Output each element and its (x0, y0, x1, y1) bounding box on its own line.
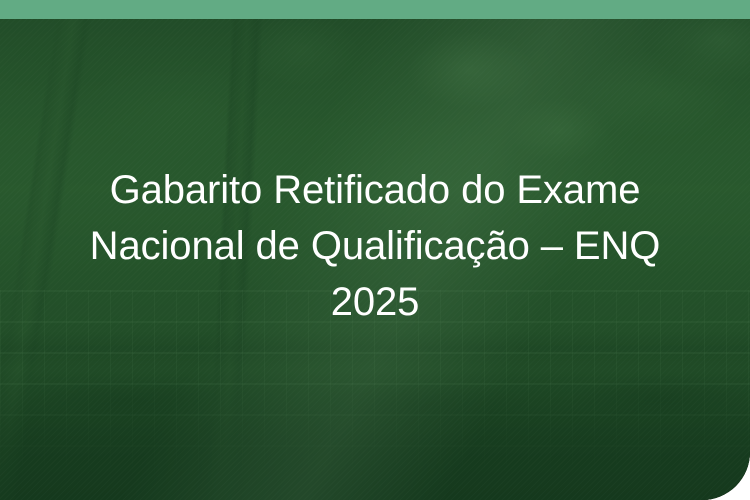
page-title: Gabarito Retificado do Exame Nacional de… (0, 162, 750, 330)
hero-banner: Gabarito Retificado do Exame Nacional de… (0, 0, 750, 500)
top-accent-bar (0, 0, 750, 19)
hero-background-foliage (0, 370, 750, 500)
